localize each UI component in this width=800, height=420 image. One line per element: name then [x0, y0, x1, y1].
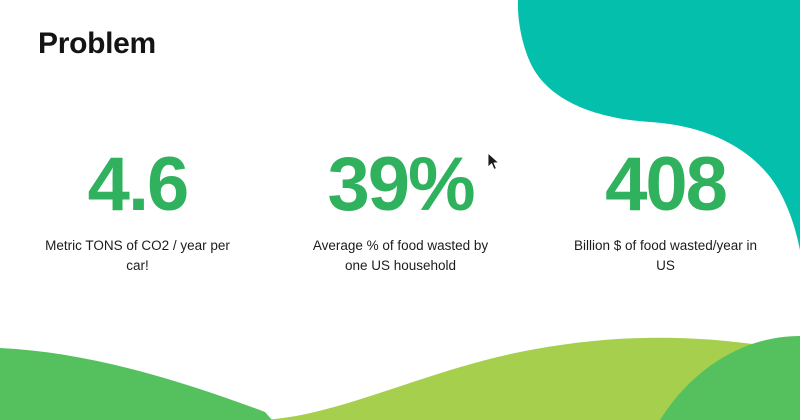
stat-caption: Billion $ of food wasted/year in US: [573, 236, 758, 275]
stat-value: 4.6: [88, 148, 188, 222]
stat-block: 4.6 Metric TONS of CO2 / year per car!: [10, 148, 265, 276]
page-title: Problem: [38, 27, 156, 62]
stat-value: 39%: [327, 148, 473, 222]
slide-canvas: Problem 4.6 Metric TONS of CO2 / year pe…: [0, 0, 800, 420]
bottom-right-green-hill-shape: [660, 336, 800, 420]
stat-caption: Average % of food wasted by one US house…: [308, 236, 493, 275]
bottom-right-lime-hill-shape: [255, 338, 800, 420]
stat-value: 408: [605, 148, 726, 222]
stat-caption: Metric TONS of CO2 / year per car!: [45, 236, 230, 275]
stats-row: 4.6 Metric TONS of CO2 / year per car! 3…: [0, 148, 800, 276]
stat-block: 39% Average % of food wasted by one US h…: [273, 148, 528, 276]
stat-block: 408 Billion $ of food wasted/year in US: [538, 148, 793, 276]
bottom-left-green-hill-shape: [0, 348, 272, 420]
